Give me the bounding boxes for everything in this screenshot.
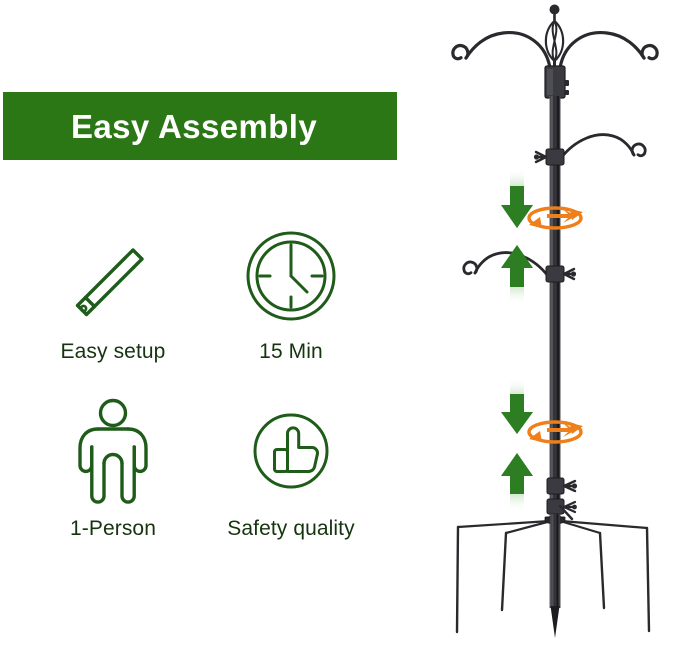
product-photo-bird-feeder-pole — [400, 0, 679, 648]
middle-arm-clamp — [546, 266, 576, 282]
feature-label-person-count: 1-Person — [70, 517, 156, 541]
lower-arm-clamp — [547, 478, 577, 494]
feature-item-duration: 15 Min — [202, 222, 380, 395]
feature-item-safety: Safety quality — [202, 395, 380, 568]
thumbs-up-circle-icon — [243, 395, 339, 507]
headline-banner: Easy Assembly — [3, 92, 397, 160]
screwdriver-wrench-icon — [63, 222, 163, 330]
upper-arm-clamp — [534, 149, 564, 165]
center-spike — [551, 514, 560, 638]
feature-label-easy-setup: Easy setup — [61, 340, 166, 364]
feature-item-person-count: 1-Person — [24, 395, 202, 568]
feature-label-duration: 15 Min — [259, 340, 323, 364]
feature-grid: Easy setup 15 Min — [24, 222, 380, 567]
features-panel: Easy Assembly — [0, 0, 410, 648]
feature-item-easy-setup: Easy setup — [24, 222, 202, 395]
height-adjust-arrows-lower — [501, 378, 533, 512]
feature-label-safety: Safety quality — [227, 517, 354, 541]
clock-icon — [243, 222, 339, 330]
height-adjust-arrows-upper — [501, 168, 533, 305]
person-standing-icon — [67, 395, 159, 507]
page-title: Easy Assembly — [71, 110, 317, 143]
top-collar — [545, 66, 569, 98]
infographic-root: Easy Assembly — [0, 0, 679, 648]
upper-right-arm — [561, 135, 645, 158]
